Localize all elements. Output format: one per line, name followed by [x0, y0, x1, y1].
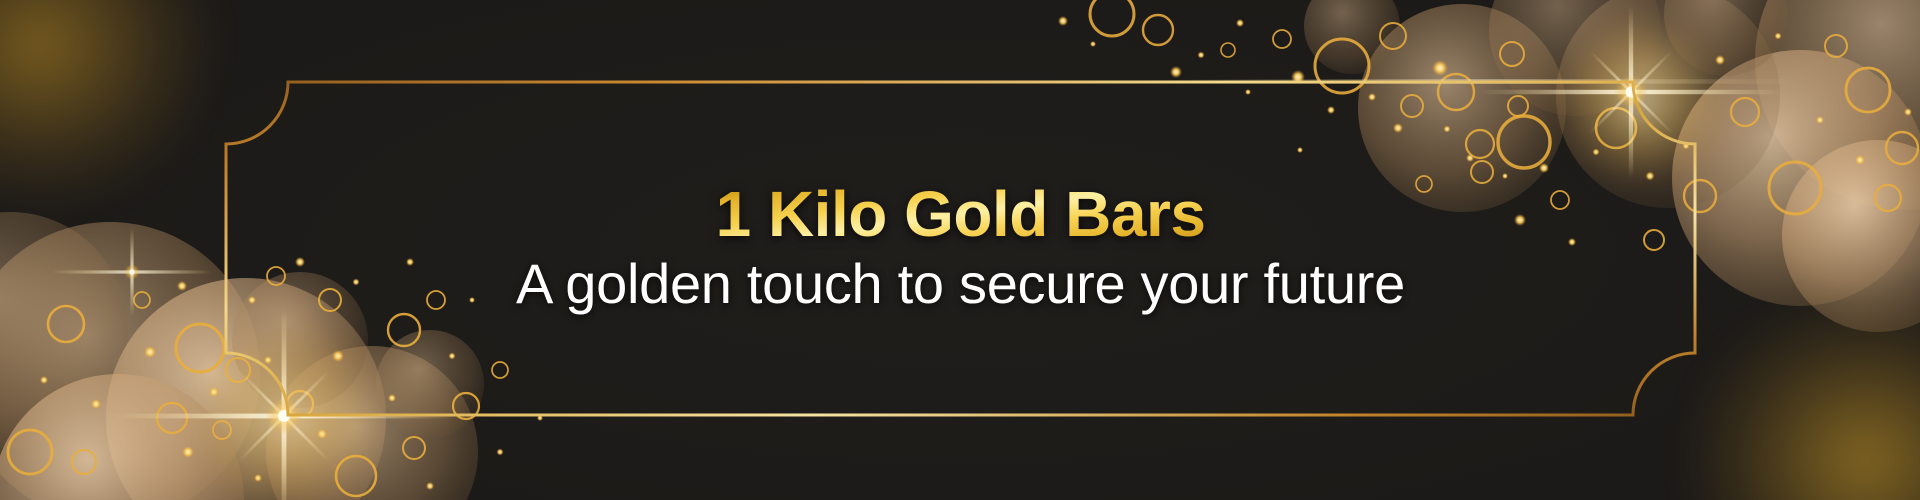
banner-subheading: A golden touch to secure your future — [516, 253, 1405, 316]
gold-bars-promo-banner: 1 Kilo Gold Bars A golden touch to secur… — [0, 0, 1920, 500]
banner-heading: 1 Kilo Gold Bars — [716, 181, 1206, 248]
banner-text-block: 1 Kilo Gold Bars A golden touch to secur… — [226, 82, 1695, 415]
